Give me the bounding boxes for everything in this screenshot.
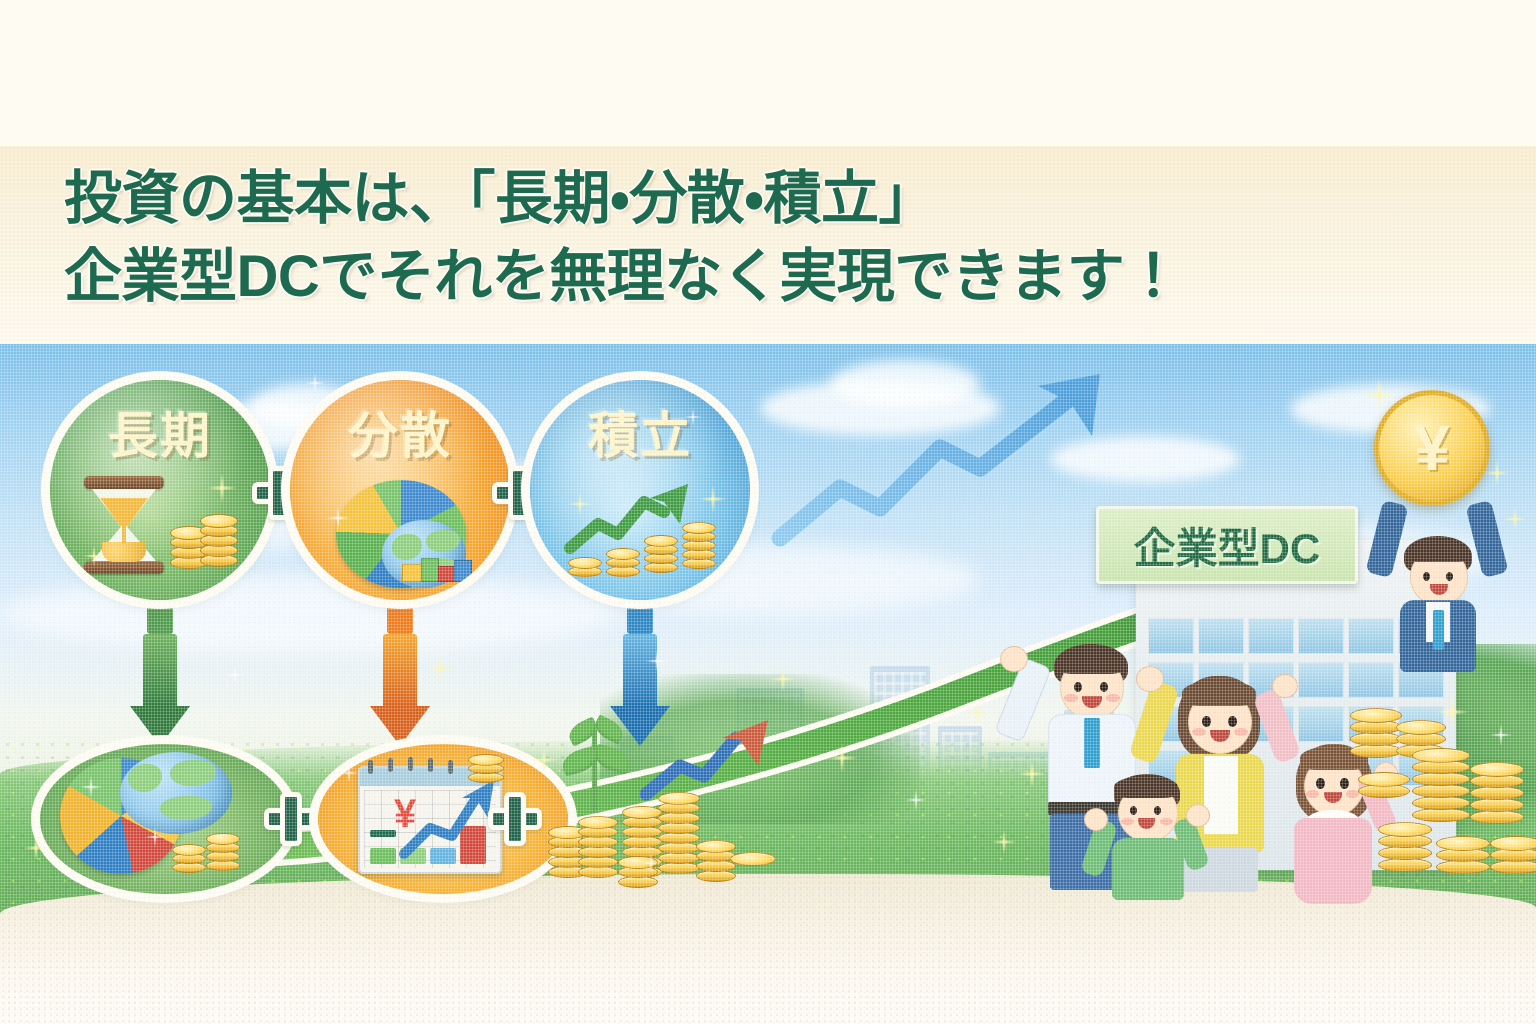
cheek bbox=[1160, 818, 1173, 825]
hair-fringe bbox=[1056, 648, 1126, 674]
coin-stack-icon bbox=[1490, 822, 1536, 878]
coin-icon bbox=[730, 852, 776, 866]
cheek bbox=[1064, 694, 1078, 702]
concept-circle-bunsan[interactable]: 分散 bbox=[290, 380, 510, 600]
plus-symbol bbox=[264, 792, 318, 846]
calendar-ring bbox=[448, 760, 453, 774]
coin-stack-icon bbox=[578, 796, 618, 886]
necktie bbox=[1084, 718, 1100, 768]
family-boy bbox=[1098, 774, 1208, 900]
poster-canvas: 投資の基本は、「長期・分散・積立」 企業型DCでそれを無理なく実現できます！ bbox=[0, 0, 1536, 1024]
plus-symbol bbox=[488, 792, 542, 846]
sign-label: 企業型DC bbox=[1134, 515, 1321, 576]
cloud bbox=[1050, 436, 1240, 482]
calendar-ring bbox=[428, 758, 433, 772]
company-sign: 企業型DC bbox=[1096, 506, 1358, 584]
coin-stack-icon bbox=[200, 492, 238, 572]
cheek bbox=[1192, 728, 1206, 736]
inner-shirt bbox=[1204, 756, 1238, 834]
hair-fringe bbox=[1114, 776, 1178, 798]
page-title: 投資の基本は、「長期・分散・積立」 企業型DCでそれを無理なく実現できます！ bbox=[64, 160, 1244, 315]
coin-stack-icon bbox=[1358, 752, 1410, 802]
coin-stack-icon bbox=[468, 752, 504, 788]
illustration-scene: 長期 bbox=[0, 344, 1536, 1024]
concept-circle-tsumitate[interactable]: 積立 bbox=[530, 380, 750, 600]
necktie bbox=[1433, 610, 1444, 650]
headline-line-2: 企業型DCでそれを無理なく実現できます！ bbox=[64, 238, 1244, 316]
calendar-ring bbox=[388, 758, 393, 772]
coin-stack-icon bbox=[206, 820, 240, 878]
coin-stack-icon bbox=[644, 520, 678, 584]
cheek bbox=[1234, 728, 1248, 736]
fist bbox=[1186, 804, 1210, 827]
calendar-ring bbox=[408, 757, 413, 771]
hourglass-icon bbox=[84, 476, 164, 574]
eye bbox=[1446, 572, 1453, 581]
businessman bbox=[1378, 492, 1498, 672]
eye bbox=[1100, 682, 1108, 692]
coin-stack-icon bbox=[606, 536, 640, 584]
eye bbox=[1074, 682, 1082, 692]
concept-label-bunsan: 分散 bbox=[290, 396, 510, 468]
eye bbox=[1316, 778, 1325, 789]
eye bbox=[1130, 806, 1137, 815]
concept-label-chouki: 長期 bbox=[50, 396, 270, 468]
sparkle-icon bbox=[1498, 502, 1532, 536]
down-arrow-bunsan bbox=[370, 634, 430, 746]
yen-symbol-large: ¥ bbox=[1414, 411, 1450, 485]
sprout-leaf bbox=[592, 743, 633, 774]
top-margin-band bbox=[0, 0, 1536, 146]
blue-trend-arrow-icon bbox=[396, 776, 500, 862]
eye bbox=[1423, 572, 1430, 581]
eye bbox=[1202, 716, 1211, 727]
headline-line-1: 投資の基本は、「長期・分散・積立」 bbox=[64, 160, 1244, 238]
yen-coin-large: ¥ bbox=[1374, 390, 1490, 506]
arm bbox=[1465, 500, 1508, 578]
fist bbox=[1272, 674, 1298, 698]
coin-stack-icon bbox=[682, 504, 716, 584]
hair-fringe bbox=[1182, 680, 1256, 706]
result-sprout-coins bbox=[540, 704, 820, 904]
eye bbox=[1154, 806, 1161, 815]
cheek bbox=[1121, 818, 1134, 825]
cheek bbox=[1106, 694, 1120, 702]
concept-circle-chouki[interactable]: 長期 bbox=[50, 380, 270, 600]
coin-stack-icon bbox=[1378, 806, 1432, 876]
down-arrow-chouki bbox=[130, 634, 190, 746]
shirt bbox=[1112, 838, 1184, 900]
calendar-ring bbox=[368, 760, 373, 774]
concept-label-tsumitate: 積立 bbox=[530, 396, 750, 468]
fist bbox=[1084, 808, 1108, 831]
cheek bbox=[1306, 790, 1319, 798]
blue-red-trend-arrows-icon bbox=[640, 718, 800, 810]
hair-fringe bbox=[1406, 540, 1470, 562]
fist bbox=[1136, 666, 1164, 692]
fist bbox=[1000, 646, 1028, 672]
coin-stack-icon bbox=[1436, 816, 1490, 878]
coin-stack-icon bbox=[172, 832, 206, 878]
coin-stack-icon bbox=[618, 846, 658, 892]
cloud bbox=[830, 360, 980, 408]
eye bbox=[1228, 716, 1237, 727]
coin-pile-right bbox=[1340, 696, 1536, 896]
result-pie-globe[interactable] bbox=[40, 744, 290, 894]
coin-stack-icon bbox=[568, 548, 602, 582]
